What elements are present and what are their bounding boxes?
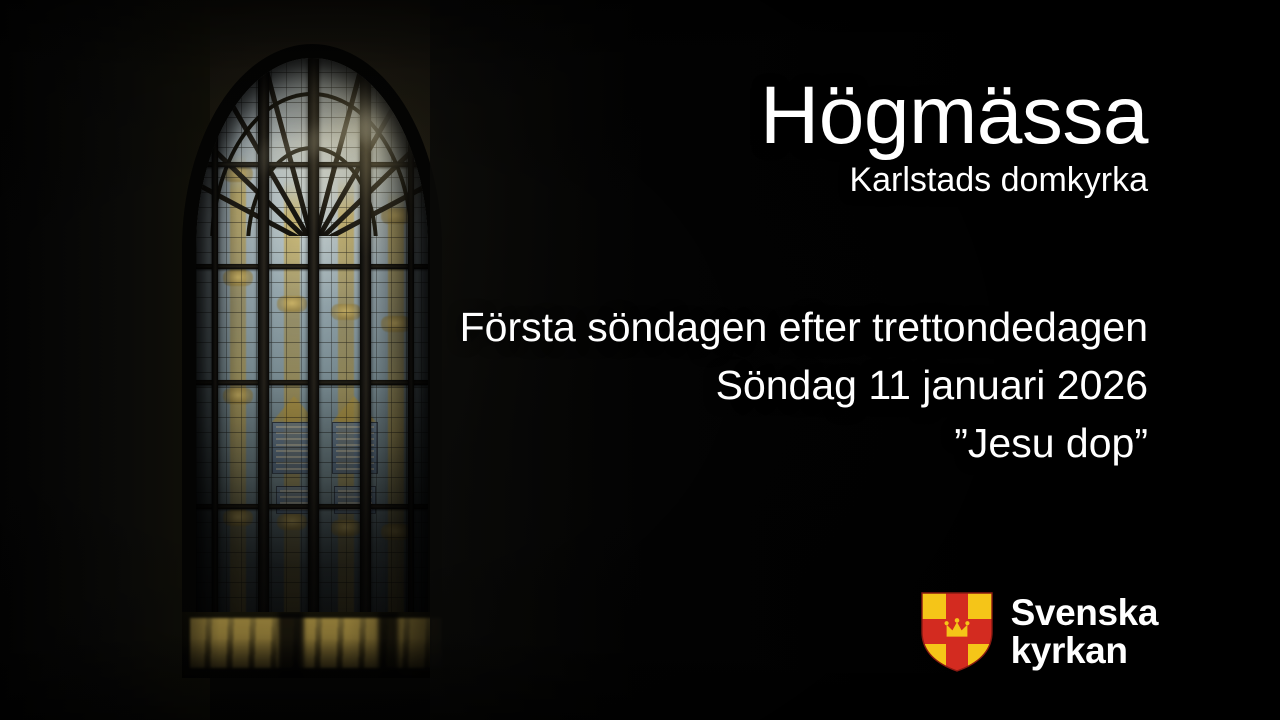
service-info-block: Första söndagen efter trettondedagen Sön… [460,298,1148,473]
service-theme: ”Jesu dop” [460,414,1148,472]
text-overlay: Högmässa Karlstads domkyrka Första sönda… [0,0,1280,720]
svenska-kyrkan-shield-icon [921,592,993,672]
service-date: Söndag 11 januari 2026 [460,356,1148,414]
svenska-kyrkan-wordmark: Svenska kyrkan [1011,594,1158,669]
liturgical-sunday-name: Första söndagen efter trettondedagen [460,298,1148,356]
wordmark-line-2: kyrkan [1011,632,1158,670]
svenska-kyrkan-logo: Svenska kyrkan [921,592,1158,672]
service-title: Högmässa [760,76,1148,156]
wordmark-line-1: Svenska [1011,594,1158,632]
church-name: Karlstads domkyrka [760,162,1148,199]
presentation-slide: Högmässa Karlstads domkyrka Första sönda… [0,0,1280,720]
title-block: Högmässa Karlstads domkyrka [760,76,1148,200]
